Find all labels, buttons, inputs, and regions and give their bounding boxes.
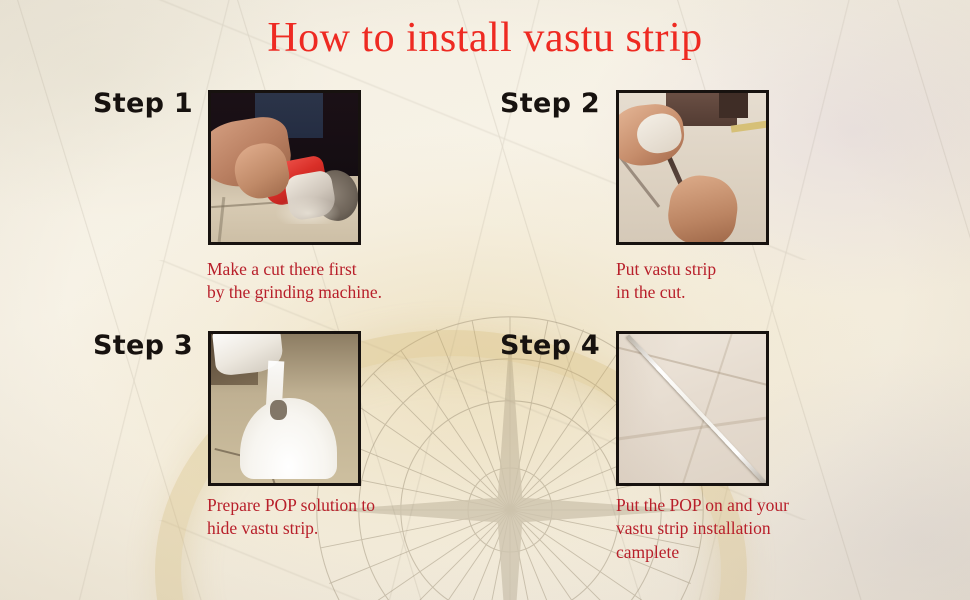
step-3-label: Step 3 bbox=[93, 330, 193, 361]
page-title: How to install vastu strip bbox=[0, 14, 970, 62]
vastu-strip-installation-poster: How to install vastu strip Step 1 Make a… bbox=[0, 0, 970, 600]
step-4-label: Step 4 bbox=[500, 330, 600, 361]
step-2-image bbox=[616, 90, 769, 245]
step-3-caption: Prepare POP solution to hide vastu strip… bbox=[207, 494, 467, 541]
step-2-label: Step 2 bbox=[500, 88, 600, 119]
step-4-image bbox=[616, 331, 769, 486]
step-4-caption: Put the POP on and your vastu strip inst… bbox=[616, 494, 871, 564]
step-2-caption: Put vastu strip in the cut. bbox=[616, 258, 856, 305]
step-1-caption: Make a cut there first by the grinding m… bbox=[207, 258, 457, 305]
step-1-label: Step 1 bbox=[93, 88, 193, 119]
step-3-image bbox=[208, 331, 361, 486]
step-1-image bbox=[208, 90, 361, 245]
